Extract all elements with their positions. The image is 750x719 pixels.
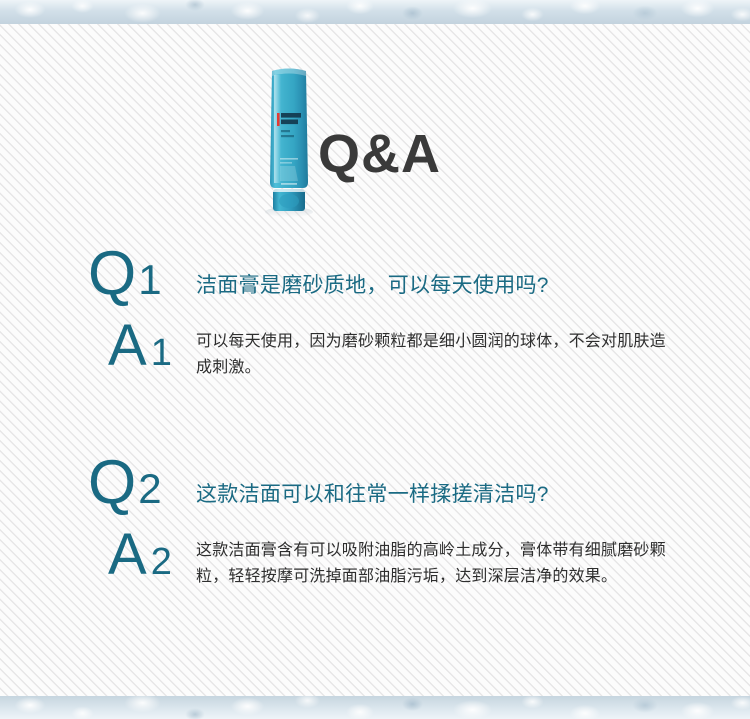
product-tube-svg [262,62,316,217]
question-letter-1: Q [88,239,136,308]
answer-text-2: 这款洁面膏含有可以吸附油脂的高岭土成分，膏体带有细腻磨砂颗粒，轻轻按摩可洗掉面部… [196,538,666,591]
product-tube-image [262,62,316,217]
answer-row-1: A1 可以每天使用，因为磨砂颗粒都是细小圆润的球体，不会对肌肤造成刺激。 [0,317,750,397]
ice-texture-band-top [0,0,750,24]
answer-row-2: A2 这款洁面膏含有可以吸附油脂的高岭土成分，膏体带有细腻磨砂颗粒，轻轻按摩可洗… [0,526,750,606]
question-row-1: Q1 洁面膏是磨砂质地，可以每天使用吗? [0,243,750,305]
answer-text-1: 可以每天使用，因为磨砂颗粒都是细小圆润的球体，不会对肌肤造成刺激。 [196,329,676,382]
question-marker-2: Q2 [88,452,162,514]
ice-texture-top-fill [0,0,750,24]
question-text-1: 洁面膏是磨砂质地，可以每天使用吗? [196,269,549,299]
question-letter-2: Q [88,448,136,517]
question-number-1: 1 [138,256,161,303]
hero-section: Q&A [0,24,750,224]
question-text-2: 这款洁面可以和往常一样揉搓清洁吗? [196,478,549,508]
question-marker-1: Q1 [88,243,162,305]
ice-texture-bottom-fill [0,696,750,719]
ice-texture-band-bottom [0,696,750,719]
qa-block-1: Q1 洁面膏是磨砂质地，可以每天使用吗? A1 可以每天使用，因为磨砂颗粒都是细… [0,243,750,397]
page-title: Q&A [318,127,441,181]
answer-number-1: 1 [151,332,172,374]
answer-marker-1: A1 [108,317,172,375]
qa-page: Q&A Q1 洁面膏是磨砂质地，可以每天使用吗? A1 可以每天使用，因为磨砂颗… [0,0,750,719]
answer-marker-2: A2 [108,526,172,584]
answer-number-2: 2 [151,541,172,583]
question-row-2: Q2 这款洁面可以和往常一样揉搓清洁吗? [0,452,750,514]
qa-block-2: Q2 这款洁面可以和往常一样揉搓清洁吗? A2 这款洁面膏含有可以吸附油脂的高岭… [0,452,750,606]
question-number-2: 2 [138,465,161,512]
answer-letter-1: A [108,313,147,378]
answer-letter-2: A [108,522,147,587]
